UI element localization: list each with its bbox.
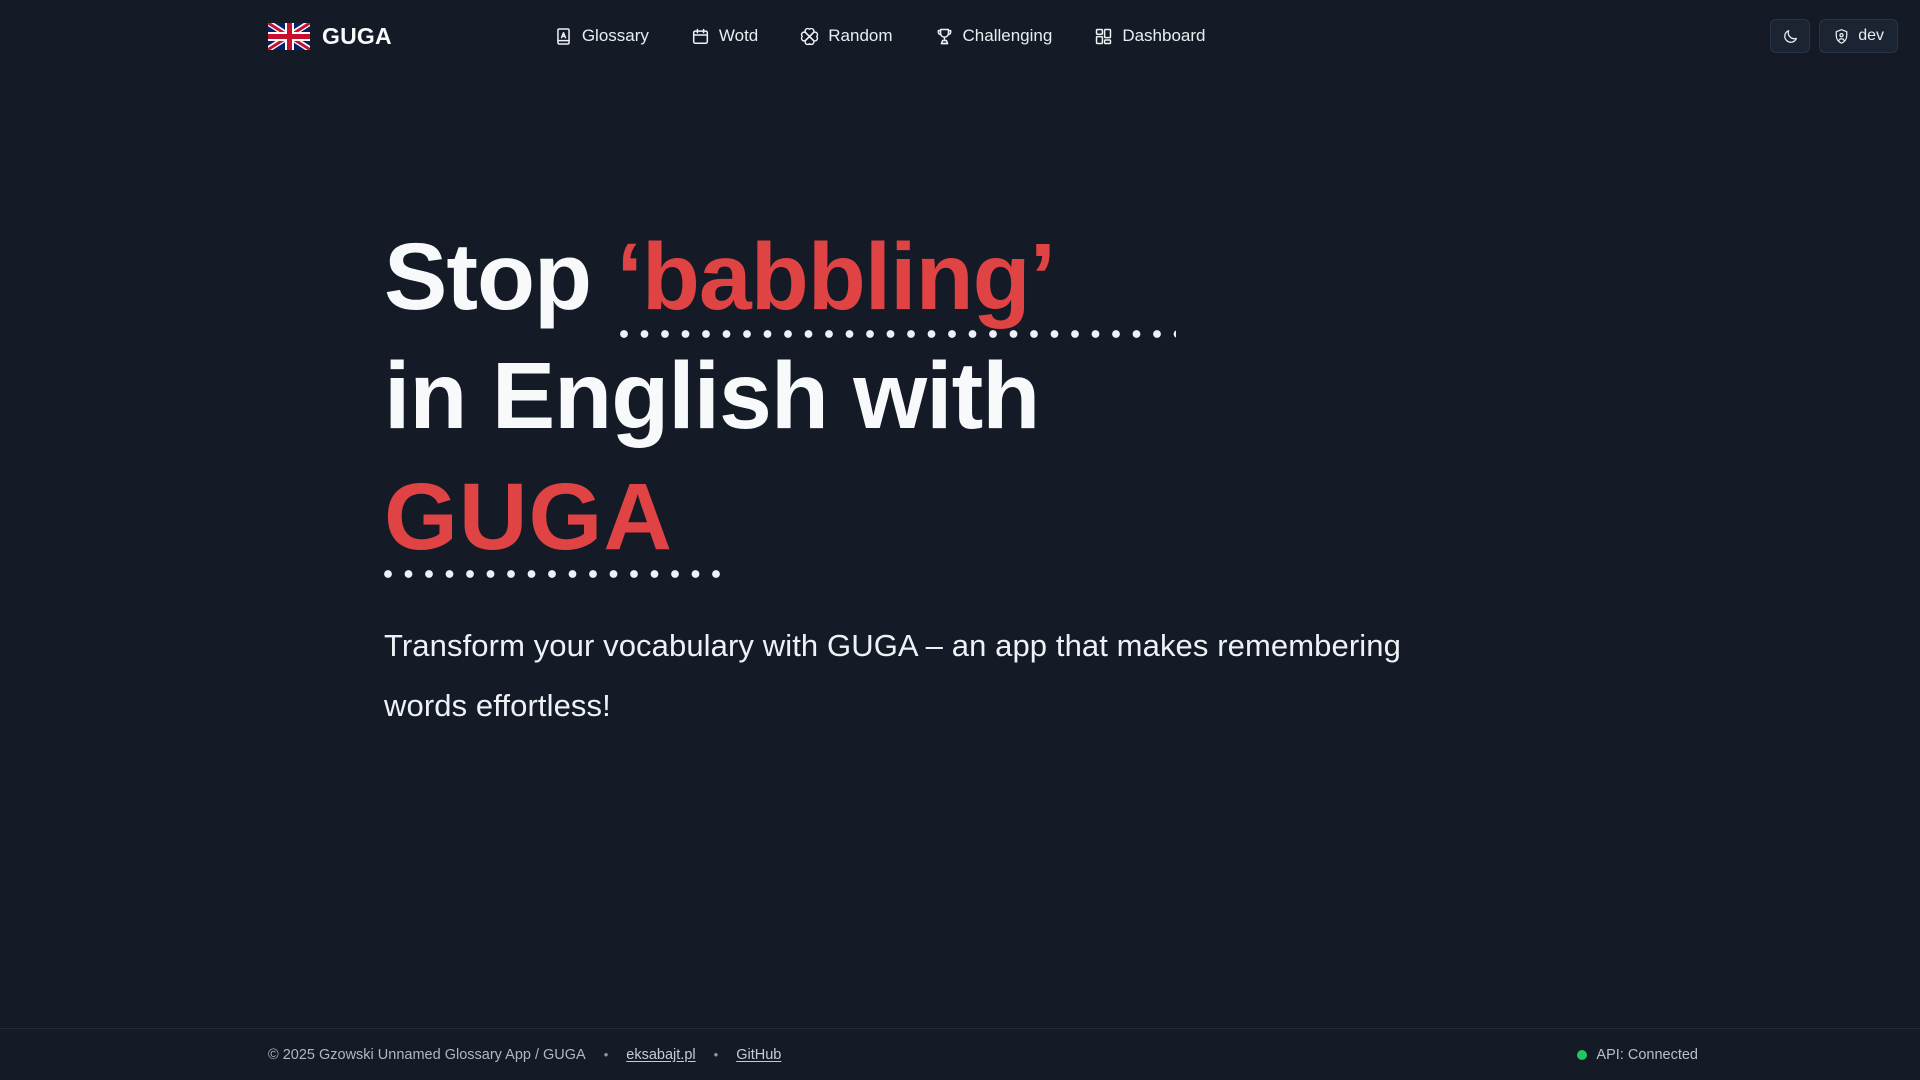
main-content: Stop ‘babbling’ in English with GUGA Tra… <box>0 72 1920 1028</box>
hero-subtitle: Transform your vocabulary with GUGA – an… <box>384 616 1454 737</box>
calendar-icon <box>691 27 710 46</box>
headline-line-2: in English with <box>384 336 1504 458</box>
book-letter-a-icon <box>554 27 573 46</box>
footer-copyright: © 2025 Gzowski Unnamed Glossary App / GU… <box>268 1047 586 1063</box>
uk-flag-icon <box>268 23 310 50</box>
layout-grid-icon <box>1094 27 1113 46</box>
nav-item-glossary[interactable]: Glossary <box>552 22 651 50</box>
main-navigation: Glossary Wotd <box>552 22 1208 50</box>
api-status-label: API: Connected <box>1596 1047 1698 1063</box>
moon-icon <box>1782 28 1799 45</box>
app-header: GUGA Glossary <box>0 0 1920 72</box>
nav-label-random: Random <box>828 26 892 46</box>
nav-item-challenging[interactable]: Challenging <box>933 22 1055 50</box>
status-dot-icon <box>1577 1050 1587 1060</box>
footer-separator-2: • <box>696 1047 737 1062</box>
api-status: API: Connected <box>1577 1047 1698 1063</box>
user-menu-button[interactable]: dev <box>1819 19 1898 53</box>
nav-item-wotd[interactable]: Wotd <box>689 22 760 50</box>
page-title: Stop ‘babbling’ in English with GUGA <box>384 217 1504 578</box>
hero-section: Stop ‘babbling’ in English with GUGA Tra… <box>384 217 1504 737</box>
header-actions: dev <box>1770 19 1898 53</box>
brand-name: GUGA <box>322 23 392 50</box>
app-footer: © 2025 Gzowski Unnamed Glossary App / GU… <box>0 1028 1920 1080</box>
trophy-icon <box>935 27 954 46</box>
headline-accent-babbling: ‘babbling’ <box>616 224 1055 330</box>
nav-item-dashboard[interactable]: Dashboard <box>1092 22 1207 50</box>
clover-shuffle-icon <box>800 27 819 46</box>
headline-accent-guga: GUGA <box>384 457 1504 579</box>
nav-item-random[interactable]: Random <box>798 22 894 50</box>
nav-label-dashboard: Dashboard <box>1122 26 1205 46</box>
footer-left-group: © 2025 Gzowski Unnamed Glossary App / GU… <box>268 1047 781 1063</box>
headline-plain-1: Stop <box>384 224 616 330</box>
user-label: dev <box>1858 27 1884 45</box>
nav-label-glossary: Glossary <box>582 26 649 46</box>
headline-line-1: Stop ‘babbling’ <box>384 217 1504 339</box>
theme-toggle-button[interactable] <box>1770 19 1810 53</box>
nav-label-wotd: Wotd <box>719 26 758 46</box>
brand-logo[interactable]: GUGA <box>268 23 392 50</box>
shield-user-icon <box>1833 28 1850 45</box>
footer-link-github[interactable]: GitHub <box>736 1047 781 1063</box>
footer-link-eksabajt[interactable]: eksabajt.pl <box>626 1047 695 1063</box>
nav-label-challenging: Challenging <box>963 26 1053 46</box>
footer-separator-1: • <box>586 1047 627 1062</box>
